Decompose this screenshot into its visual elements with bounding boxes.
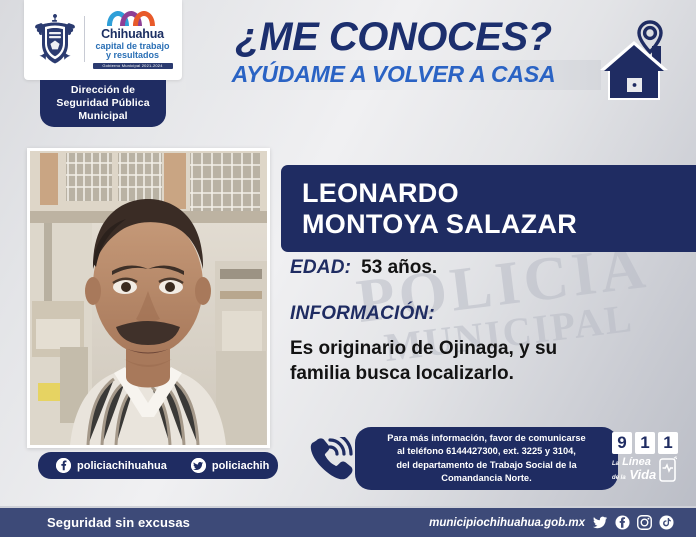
social-handles-bar[interactable]: policiachihuahua policiachih [38, 452, 278, 479]
emergency-tag-small2: de la [612, 475, 626, 481]
city-tagline-line2: y resultados [95, 51, 169, 60]
info-text-line1: Es originario de Ojinaga, y su [290, 337, 635, 362]
age-row: EDAD: 53 años. [290, 257, 437, 279]
department-line3: Municipal [78, 110, 127, 123]
footer-slogan: Seguridad sin excusas [47, 515, 190, 530]
missing-person-poster: POLICIA MUNICIPAL [0, 0, 696, 537]
footer-bar: Seguridad sin excusas municipiochihuahua… [0, 506, 696, 537]
contact-info-pill: Para más información, favor de comunicar… [355, 427, 618, 490]
contact-line1: Para más información, favor de comunicar… [387, 432, 585, 445]
info-text: Es originario de Ojinaga, y su familia b… [290, 337, 635, 386]
missing-person-photo [27, 148, 270, 448]
city-name: Chihuahua [101, 28, 164, 41]
department-label: Dirección de Seguridad Pública Municipal [40, 80, 166, 127]
tiktok-icon[interactable] [659, 515, 674, 530]
emergency-digits: 9 1 1 [612, 432, 686, 454]
logo-divider [84, 16, 85, 62]
department-line1: Dirección de [71, 84, 135, 97]
facebook-icon[interactable] [615, 515, 630, 530]
age-value: 53 años. [361, 257, 437, 279]
facebook-handle[interactable]: policiachihuahua [77, 460, 167, 472]
city-microtext: Gobierno Municipal 2021-2024 [93, 63, 173, 69]
twitter-icon[interactable] [191, 458, 206, 473]
mobile-phone-heartbeat-icon [659, 456, 677, 482]
footer-social-icons [593, 515, 674, 530]
contact-line2: al teléfono 6144427300, ext. 3225 y 3104… [387, 445, 585, 458]
emergency-tagline-row2: de la Vida [612, 468, 656, 481]
city-tagline: capital de trabajo y resultados [95, 42, 169, 61]
emergency-911-badge: 9 1 1 La Línea de la Vida [612, 432, 686, 488]
department-line2: Seguridad Pública [56, 97, 149, 110]
twitter-icon[interactable] [593, 515, 608, 530]
headline-subtitle: AYÚDAME A VOLVER A CASA [192, 63, 595, 86]
twitter-handle[interactable]: policiachih [212, 460, 269, 472]
headline-subtitle-band: AYÚDAME A VOLVER A CASA [186, 60, 601, 90]
chihuahua-arcs-icon [105, 9, 161, 27]
photo-illustration [30, 151, 267, 445]
institutional-logo-card: Chihuahua capital de trabajo y resultado… [24, 0, 182, 80]
house-with-location-pin-icon [592, 14, 684, 110]
footer-right-group: municipiochihuahua.gob.mx [429, 515, 674, 530]
age-label: EDAD: [290, 257, 351, 279]
emergency-tag-word2: Vida [629, 467, 656, 482]
emergency-tagline: La Línea de la Vida [612, 456, 686, 482]
phone-ringing-icon [310, 437, 356, 481]
facebook-icon[interactable] [56, 458, 71, 473]
contact-line4: Comandancia Norte. [387, 472, 585, 485]
emergency-digit-3: 1 [658, 432, 678, 454]
emergency-digit-1: 9 [612, 432, 632, 454]
info-label: INFORMACIÓN: [290, 303, 435, 325]
contact-line3: del departamento de Trabajo Social de la [387, 459, 585, 472]
person-name-line1: LEONARDO [302, 178, 696, 209]
coat-of-arms-shield-icon [32, 11, 78, 67]
instagram-icon[interactable] [637, 515, 652, 530]
person-name-line2: MONTOYA SALAZAR [302, 209, 696, 240]
headline-block: ¿ME CONOCES? AYÚDAME A VOLVER A CASA [186, 18, 601, 90]
headline-title: ¿ME CONOCES? [186, 18, 601, 56]
emergency-tag-small1: La [612, 461, 619, 467]
photo-image [30, 151, 267, 445]
info-text-line2: familia busca localizarlo. [290, 362, 635, 387]
emergency-digit-2: 1 [635, 432, 655, 454]
chihuahua-city-logo: Chihuahua capital de trabajo y resultado… [91, 9, 174, 68]
person-name-banner: LEONARDO MONTOYA SALAZAR [281, 165, 696, 252]
footer-website[interactable]: municipiochihuahua.gob.mx [429, 517, 585, 529]
